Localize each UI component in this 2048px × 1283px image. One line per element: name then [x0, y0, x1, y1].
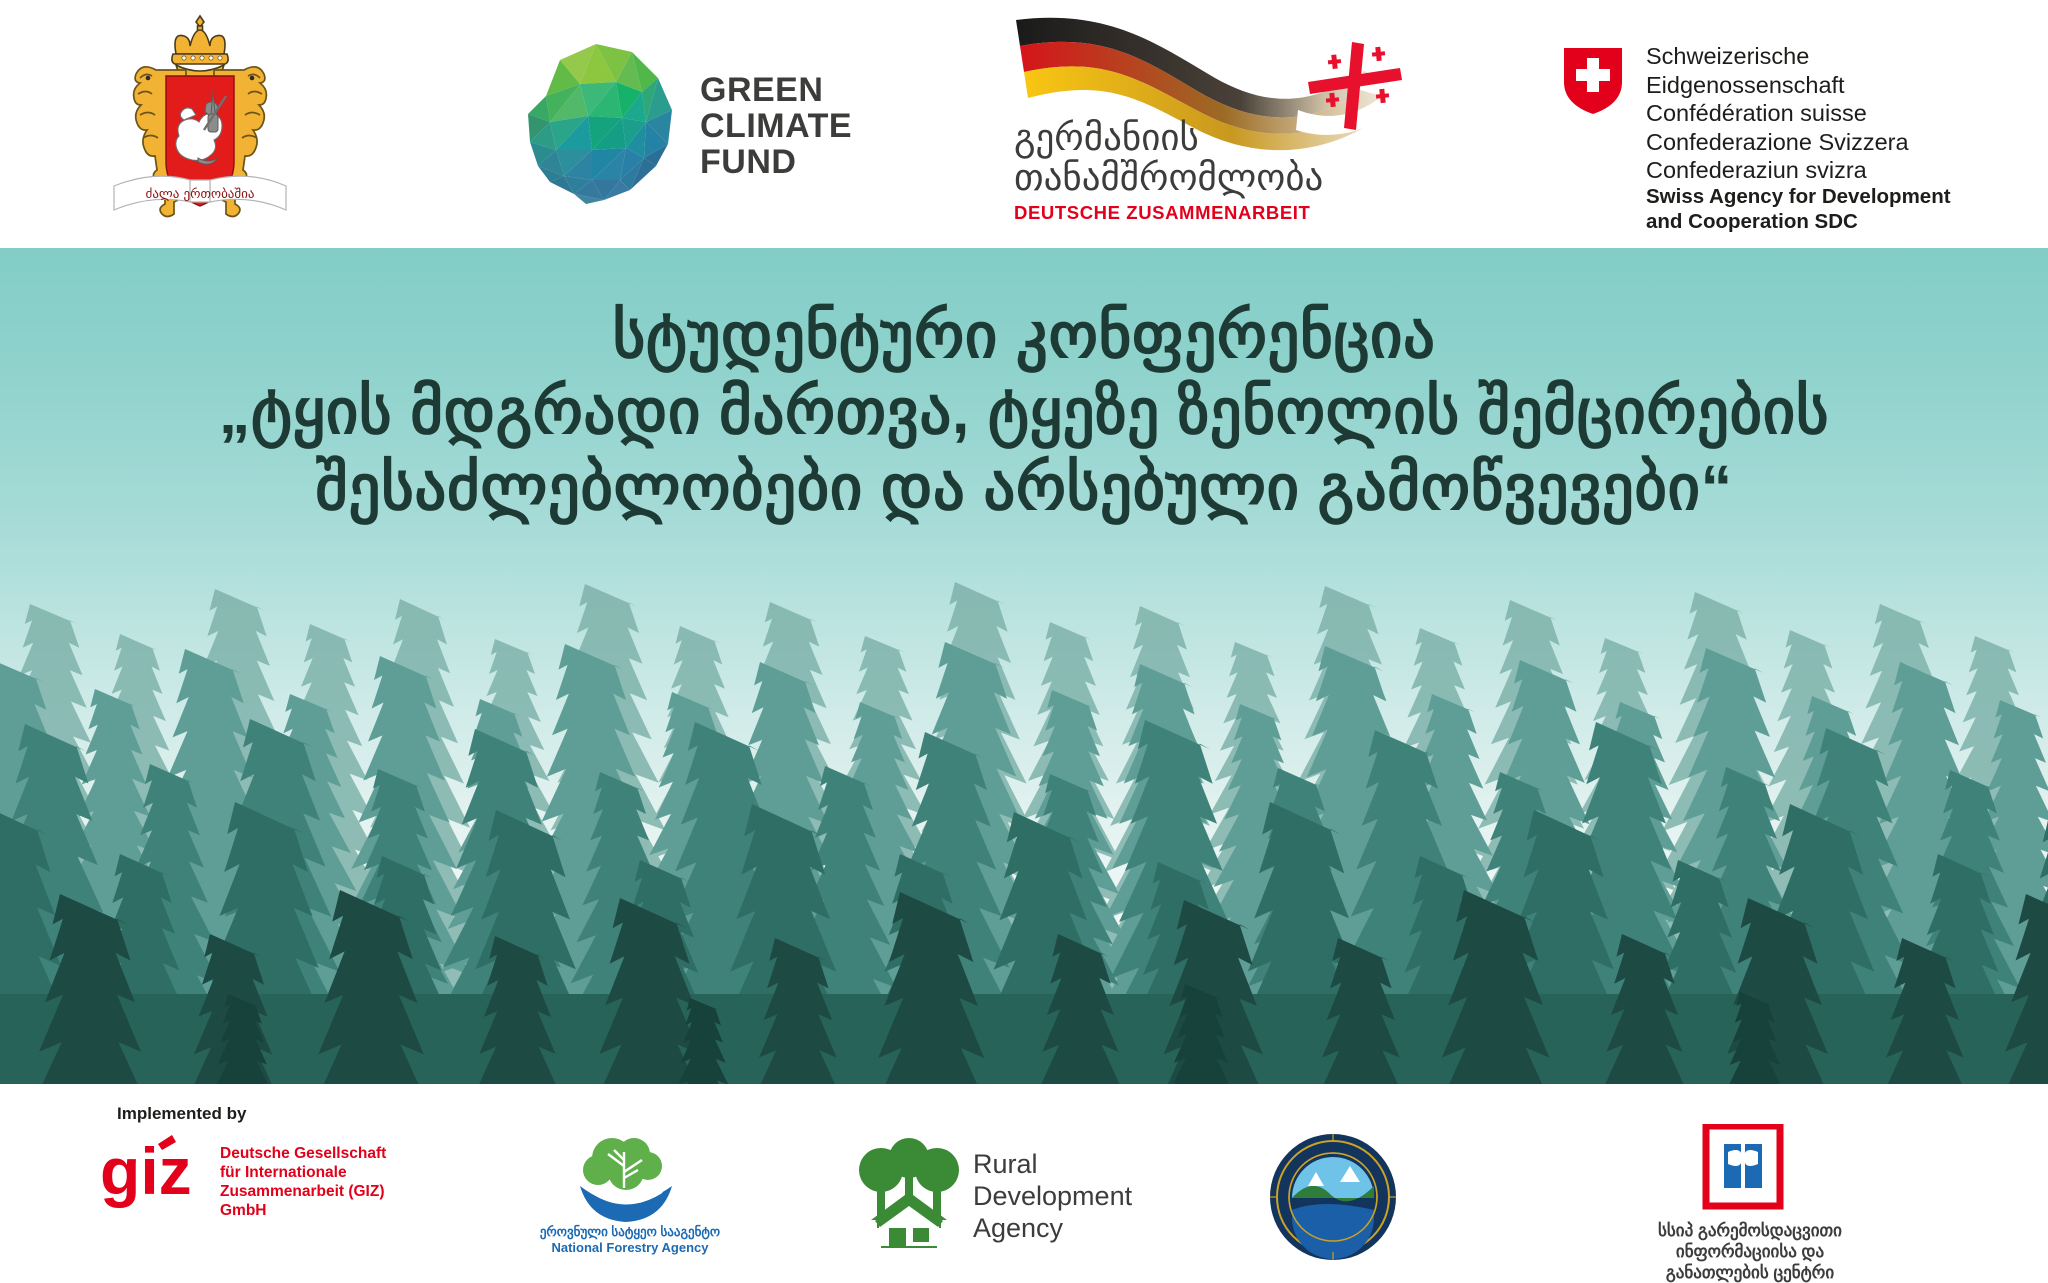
rural-development-agency-logo: Rural Development Agency: [855, 1136, 1185, 1256]
swiss-cross-shield-icon: [1562, 46, 1624, 116]
top-logo-bar: ძალა ერთობაშია: [0, 0, 2048, 248]
conference-banner: სტუდენტური კონფერენცია „ტყის მდგრადი მარ…: [0, 248, 2048, 1084]
info-center-book-icon: [1698, 1124, 1788, 1216]
sdc-line-1: Swiss Agency for Development: [1646, 184, 1951, 209]
sdc-line-2: and Cooperation SDC: [1646, 209, 1951, 234]
rda-line-3: Agency: [973, 1212, 1132, 1244]
national-forestry-agency-name: ეროვნული სატყეო სააგენტო National Forest…: [530, 1224, 730, 1256]
coop-ka-line-1: გერმანიის: [1014, 118, 1334, 158]
green-climate-fund-wordmark: GREEN CLIMATE FUND: [700, 72, 852, 180]
title-line-3: შესაძლებლობები და არსებული გამოწვევები“: [0, 450, 2048, 526]
swiss-agency-name: Swiss Agency for Development and Coopera…: [1646, 184, 1951, 234]
german-cooperation-title-ka: გერმანიის თანამშრომლობა: [1014, 118, 1334, 198]
info-center-name: სსიპ გარემოსდაცვითი ინფორმაციისა და განა…: [1600, 1220, 1900, 1283]
green-climate-fund-logo: GREEN CLIMATE FUND: [512, 30, 872, 220]
rural-development-agency-name: Rural Development Agency: [973, 1148, 1132, 1244]
forestry-agency-tree-icon: [560, 1132, 690, 1224]
coniferous-forest-silhouette: [0, 564, 2048, 1084]
ic-line-1: სსიპ გარემოსდაცვითი: [1600, 1220, 1900, 1241]
giz-desc-line-1: Deutsche Gesellschaft: [220, 1144, 430, 1163]
ic-line-3: განათლების ცენტრი: [1600, 1262, 1900, 1283]
german-cooperation-subtitle-de: DEUTSCHE ZUSAMMENARBEIT: [1014, 202, 1374, 224]
ministry-official-seal-icon: [1268, 1132, 1398, 1262]
rural-development-trees-house-icon: [855, 1136, 965, 1251]
polygon-globe-icon: [512, 38, 680, 206]
giz-description: Deutsche Gesellschaft für Internationale…: [220, 1144, 430, 1220]
rda-line-1: Rural: [973, 1148, 1132, 1180]
svg-text:giz: giz: [100, 1134, 192, 1208]
info-center-logo: სსიპ გარემოსდაცვითი ინფორმაციისა და განა…: [1600, 1124, 1900, 1264]
implemented-by-label: Implemented by: [117, 1104, 246, 1124]
swiss-lang-de: Schweizerische Eidgenossenschaft: [1646, 42, 2002, 99]
gcf-line-2: CLIMATE: [700, 108, 852, 144]
georgian-coat-of-arms-icon: ძალა ერთობაშია: [80, 8, 320, 240]
page-title: სტუდენტური კონფერენცია „ტყის მდგრადი მარ…: [0, 298, 2048, 526]
title-line-2: „ტყის მდგრადი მართვა, ტყეზე ზენოლის შემც…: [0, 374, 2048, 450]
bottom-logo-bar: Implemented by giz Deutsche Gesellschaft…: [0, 1084, 2048, 1271]
nfa-name-ka: ეროვნული სატყეო სააგენტო: [530, 1224, 730, 1240]
ic-line-2: ინფორმაციისა და: [1600, 1241, 1900, 1262]
national-forestry-agency-logo: ეროვნული სატყეო სააგენტო National Forest…: [530, 1132, 730, 1262]
german-cooperation-logo: გერმანიის თანამშრომლობა DEUTSCHE ZUSAMME…: [1000, 6, 1420, 236]
rda-line-2: Development: [973, 1180, 1132, 1212]
gcf-line-3: FUND: [700, 144, 852, 180]
swiss-lang-fr: Confédération suisse: [1646, 99, 2002, 128]
nfa-name-en: National Forestry Agency: [530, 1240, 730, 1256]
coa-motto-text: ძალა ერთობაშია: [146, 187, 255, 202]
coop-ka-line-2: თანამშრომლობა: [1014, 158, 1334, 198]
swiss-lang-it: Confederazione Svizzera: [1646, 128, 2002, 157]
swiss-confederation-languages: Schweizerische Eidgenossenschaft Confédé…: [1646, 42, 2002, 185]
giz-wordmark-icon: giz: [100, 1132, 204, 1210]
swiss-confederation-logo: Schweizerische Eidgenossenschaft Confédé…: [1562, 24, 2002, 224]
giz-desc-line-3: Zusammenarbeit (GIZ) GmbH: [220, 1182, 430, 1220]
giz-desc-line-2: für Internationale: [220, 1163, 430, 1182]
title-line-1: სტუდენტური კონფერენცია: [0, 298, 2048, 374]
gcf-line-1: GREEN: [700, 72, 852, 108]
giz-logo: giz Deutsche Gesellschaft für Internatio…: [100, 1132, 420, 1222]
swiss-lang-rm: Confederaziun svizra: [1646, 156, 2002, 185]
